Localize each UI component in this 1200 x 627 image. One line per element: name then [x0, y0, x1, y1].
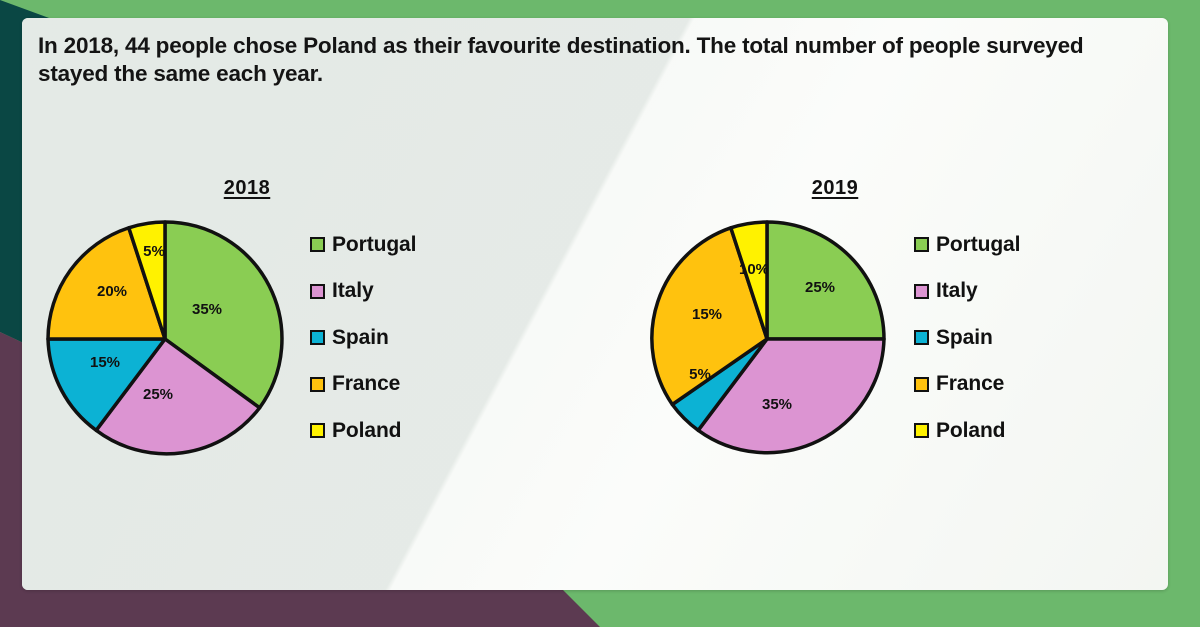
chart-title-2018: 2018 — [122, 177, 372, 200]
legend-label-portugal: Portugal — [332, 233, 416, 257]
pie-label-poland-2019: 10% — [739, 261, 769, 278]
legend-swatch-poland-icon — [310, 423, 325, 438]
legend-label-france: France — [332, 372, 400, 396]
pie-label-italy-2019: 35% — [762, 396, 792, 413]
question-text: In 2018, 44 people chose Poland as their… — [38, 32, 1148, 89]
legend-label-portugal: Portugal — [936, 233, 1020, 257]
legend-swatch-spain-icon — [914, 330, 929, 345]
charts-container: 2018 — [22, 177, 1168, 467]
legend-swatch-italy-icon — [914, 284, 929, 299]
legend-swatch-spain-icon — [310, 330, 325, 345]
pie-chart-2019: 25% 35% 5% 15% 10% — [642, 214, 892, 464]
pie-chart-2018: 35% 25% 15% 20% 5% — [40, 214, 290, 464]
legend-item-poland-2019: Poland — [914, 408, 1020, 455]
legend-label-poland: Poland — [332, 419, 401, 443]
legend-item-poland-2018: Poland — [310, 408, 416, 455]
legend-label-italy: Italy — [332, 279, 374, 303]
legend-item-spain-2019: Spain — [914, 315, 1020, 362]
legend-item-spain-2018: Spain — [310, 315, 416, 362]
legend-item-portugal-2018: Portugal — [310, 222, 416, 269]
chart-block-2019: 2019 — [642, 177, 1142, 464]
legend-swatch-france-icon — [310, 377, 325, 392]
activity-card: In 2018, 44 people chose Poland as their… — [22, 18, 1168, 590]
legend-swatch-france-icon — [914, 377, 929, 392]
pie-label-italy-2018: 25% — [143, 386, 173, 403]
legend-label-poland: Poland — [936, 419, 1005, 443]
legend-item-italy-2018: Italy — [310, 268, 416, 315]
legend-label-spain: Spain — [332, 326, 389, 350]
legend-swatch-portugal-icon — [914, 237, 929, 252]
page-frame: In 2018, 44 people chose Poland as their… — [0, 0, 1200, 627]
frame-accent-purple-bottom — [0, 587, 600, 627]
pie-label-portugal-2018: 35% — [192, 301, 222, 318]
pie-label-portugal-2019: 25% — [805, 279, 835, 296]
legend-label-france: France — [936, 372, 1004, 396]
legend-label-spain: Spain — [936, 326, 993, 350]
legend-swatch-portugal-icon — [310, 237, 325, 252]
legend-item-portugal-2019: Portugal — [914, 222, 1020, 269]
legend-2018: Portugal Italy Spain France — [310, 222, 416, 455]
chart-title-2019: 2019 — [710, 177, 960, 200]
legend-swatch-poland-icon — [914, 423, 929, 438]
pie-label-poland-2018: 5% — [143, 243, 165, 260]
legend-2019: Portugal Italy Spain France — [914, 222, 1020, 455]
pie-label-spain-2019: 5% — [689, 366, 711, 383]
chart-block-2018: 2018 — [40, 177, 540, 464]
legend-item-france-2019: France — [914, 361, 1020, 408]
legend-swatch-italy-icon — [310, 284, 325, 299]
legend-item-italy-2019: Italy — [914, 268, 1020, 315]
pie-label-spain-2018: 15% — [90, 354, 120, 371]
legend-label-italy: Italy — [936, 279, 978, 303]
legend-item-france-2018: France — [310, 361, 416, 408]
pie-label-france-2018: 20% — [97, 283, 127, 300]
pie-label-france-2019: 15% — [692, 306, 722, 323]
